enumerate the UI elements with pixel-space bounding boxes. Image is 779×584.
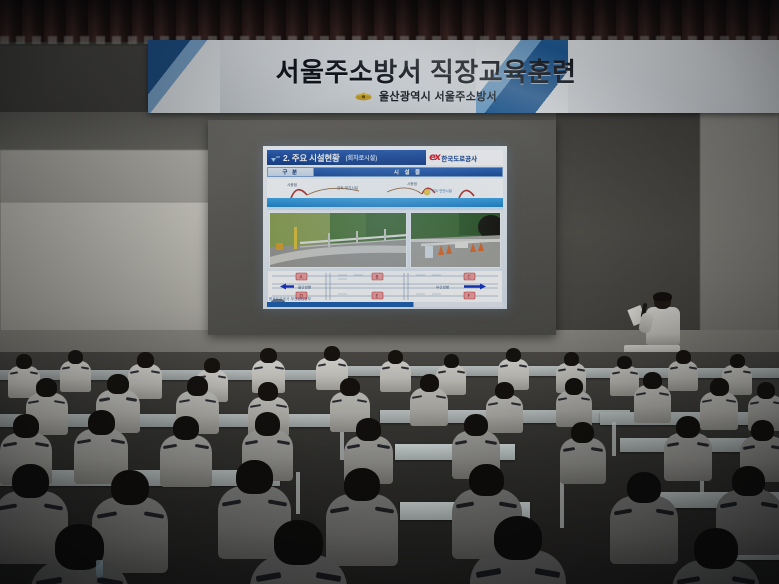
audience-member-head — [494, 516, 542, 560]
audience-member-head — [344, 468, 380, 501]
audience-member — [672, 528, 760, 584]
audience-member-head — [732, 466, 765, 496]
audience-member-head — [564, 352, 579, 366]
svg-text:시종점: 시종점 — [287, 182, 297, 187]
audience-member-torso — [610, 496, 678, 564]
audience-member-head — [258, 382, 278, 401]
banner-subtitle: 울산광역시 서울주소방서 — [379, 88, 497, 104]
water-bottle — [96, 560, 103, 578]
audience-member-head — [356, 418, 380, 441]
audience-member-head — [274, 520, 322, 565]
ex-logo-mark: ex — [428, 153, 440, 163]
wall-ledge-upper — [0, 150, 232, 202]
audience-member-head — [757, 382, 775, 399]
slide-photo-row — [269, 212, 501, 268]
audience-member-head — [694, 528, 738, 569]
presenter — [640, 293, 686, 349]
audience-member-head — [676, 416, 700, 438]
svg-text:A: A — [300, 274, 303, 280]
audience-member-head — [88, 410, 115, 435]
audience-member-head — [506, 348, 522, 362]
audience-member-head — [571, 422, 594, 443]
audience-member-head — [751, 420, 774, 441]
audience-member-head — [469, 464, 504, 496]
audience-member-head — [710, 378, 729, 396]
audience-member — [410, 374, 448, 430]
audience-member — [470, 516, 566, 584]
bullet-icon — [270, 152, 281, 163]
audience-member-head — [255, 412, 280, 436]
chair-frame — [296, 472, 300, 514]
banner-subtitle-row: 울산광역시 서울주소방서 — [226, 88, 626, 104]
audience-member — [250, 520, 347, 584]
audience-member-head — [12, 464, 49, 498]
audience-member-head — [111, 470, 149, 505]
audience-member-torso — [410, 388, 448, 426]
audience-member — [668, 350, 698, 394]
audience-member-head — [187, 376, 208, 396]
chair-frame — [612, 422, 616, 456]
audience-member-head — [36, 378, 57, 397]
svg-text:시종점: 시종점 — [407, 181, 417, 186]
table-header-label-category: 구 분 — [282, 168, 298, 176]
audience-member — [30, 524, 129, 584]
audience-member-head — [68, 350, 84, 364]
slide-footer-bar — [267, 302, 503, 307]
audience-member-head — [340, 378, 360, 396]
slide-blue-band-light — [267, 207, 503, 210]
audience-member-head — [617, 356, 632, 369]
presenter-hair — [653, 292, 672, 301]
audience-member-torso — [668, 361, 698, 391]
audience-member-head — [173, 416, 199, 440]
svg-text:C: C — [468, 274, 471, 280]
audience-member — [560, 422, 606, 489]
audience-member-head — [565, 378, 583, 395]
audience-member-head — [204, 358, 220, 373]
audience-member — [610, 472, 678, 571]
audience-member-head — [730, 354, 745, 368]
audience-member-head — [388, 350, 404, 364]
audience-member-head — [464, 414, 488, 436]
audience-member-head — [107, 374, 129, 394]
svg-text:유도·안전시설: 유도·안전시설 — [432, 188, 452, 193]
svg-text:울산방향: 울산방향 — [298, 285, 312, 290]
lecture-hall-photo: 서울주소방서 직장교육훈련 울산광역시 서울주소방서 — [0, 0, 779, 584]
ex-logo-name: 한국도로공사 — [441, 153, 477, 163]
presentation-slide: 2. 주요 시설현황 (회차로시설) ex 한국도로공사 구 분 시 설 물 — [263, 146, 507, 309]
audience-member-head — [260, 348, 277, 363]
banner-left-accent — [148, 40, 220, 113]
slide-title-bar: 2. 주요 시설현황 (회차로시설) ex 한국도로공사 — [267, 150, 503, 165]
audience-member-head — [676, 350, 691, 364]
slide-blue-band — [267, 198, 503, 207]
svg-text:E: E — [376, 293, 379, 299]
slide-photo-safety-cones — [410, 212, 501, 268]
banner-title: 서울주소방서 직장교육훈련 — [226, 52, 626, 89]
audience-member-torso — [560, 438, 606, 484]
audience-member — [380, 350, 411, 396]
table-header-cell-category: 구 분 — [267, 167, 314, 177]
korea-expressway-logo: ex 한국도로공사 — [426, 150, 503, 165]
svg-text:부산방향: 부산방향 — [436, 285, 450, 290]
slide-title-text: 주요 시설현황 — [292, 152, 340, 164]
audience-member-head — [444, 354, 459, 368]
slide-title-subtitle: (회차로시설) — [346, 153, 378, 162]
audience-member-head — [137, 352, 154, 368]
audience-member-head — [420, 374, 439, 392]
table-header-label-facility: 시 설 물 — [394, 168, 422, 176]
fire-service-emblem-icon — [355, 91, 372, 102]
audience-member-head — [643, 372, 662, 389]
slide-title-number: 2. — [283, 153, 290, 163]
event-banner: 서울주소방서 직장교육훈련 울산광역시 서울주소방서 — [148, 40, 779, 113]
slide-table-header: 구 분 시 설 물 — [267, 167, 503, 177]
audience-member-head — [236, 460, 272, 494]
audience-member-head — [13, 414, 39, 438]
audience-member-torso — [380, 361, 411, 392]
audience-member-head — [324, 346, 340, 361]
slide-photo-guardrail — [269, 212, 407, 268]
audience-area — [0, 352, 779, 584]
svg-text:B: B — [376, 274, 379, 280]
audience-member-head — [495, 382, 514, 399]
table-header-cell-facility: 시 설 물 — [314, 167, 503, 177]
svg-text:감속·대기시설: 감속·대기시설 — [337, 185, 358, 190]
projection-screen: 2. 주요 시설현황 (회차로시설) ex 한국도로공사 구 분 시 설 물 — [208, 120, 556, 335]
audience-member-head — [627, 472, 661, 503]
audience-member-head — [16, 354, 32, 369]
